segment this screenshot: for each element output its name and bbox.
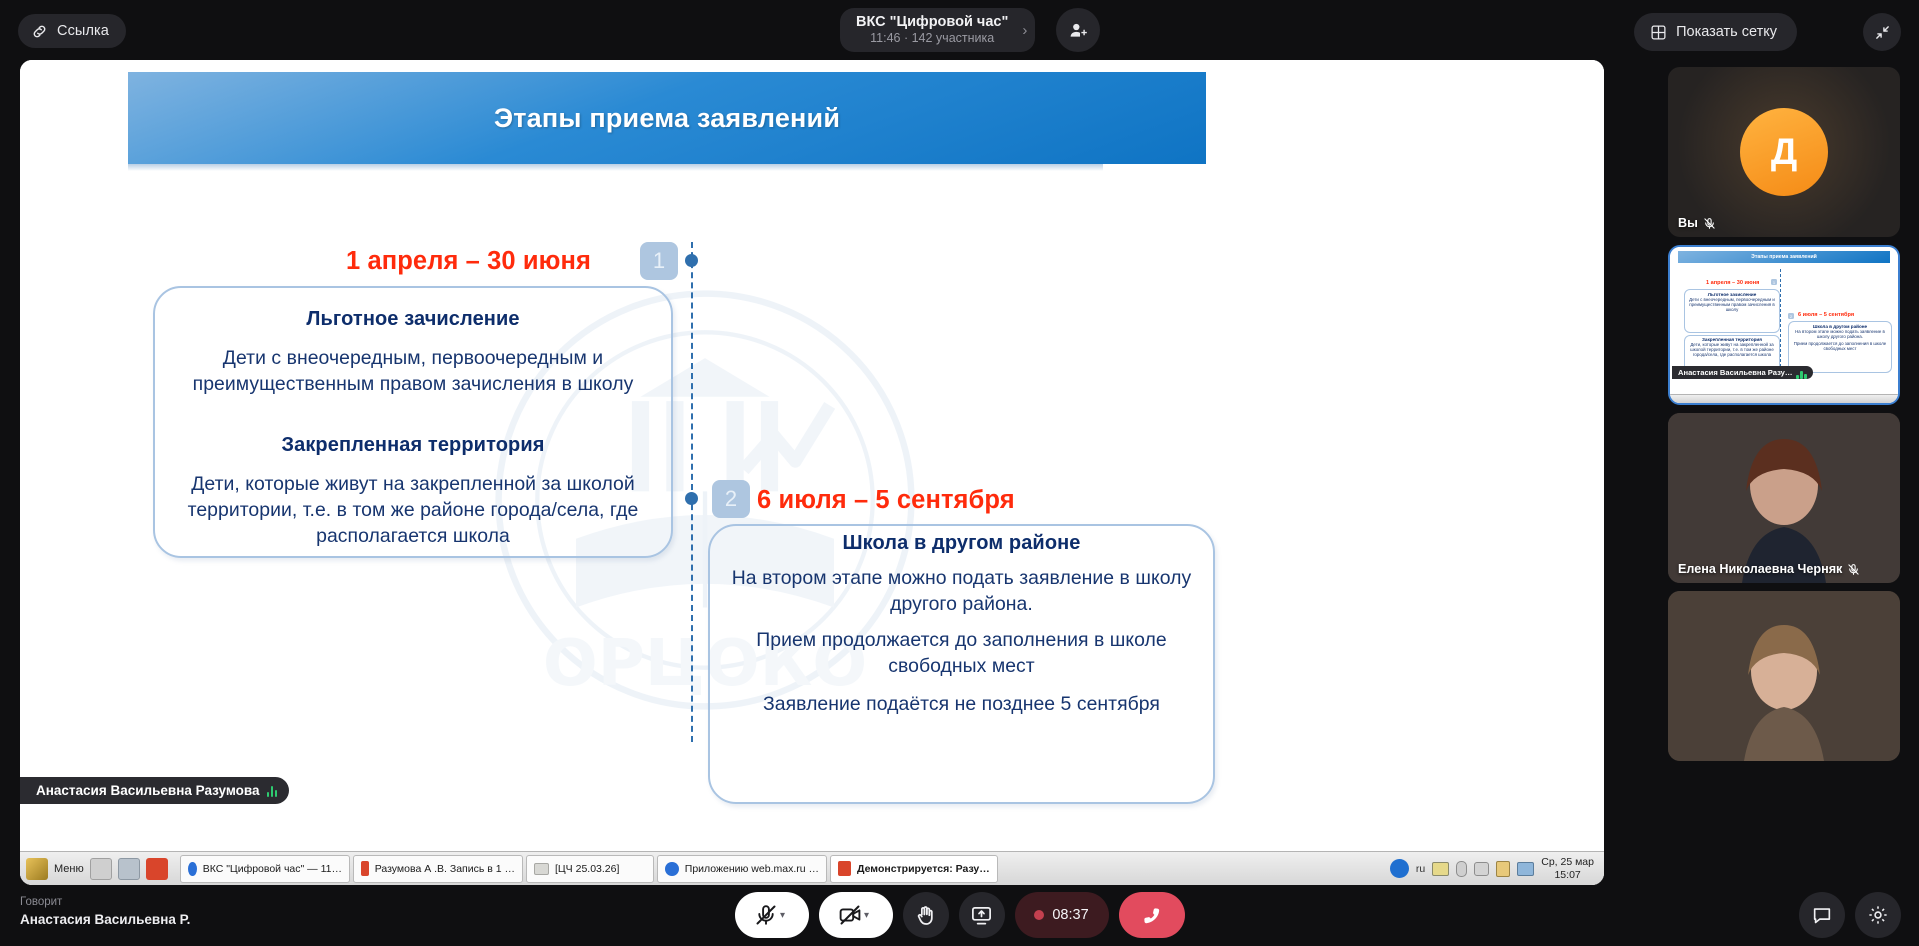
taskbar-item-active[interactable]: Демонстрируется: Разу… (830, 855, 998, 883)
copy-link-label: Ссылка (57, 23, 109, 39)
stage-1-card: Льготное зачисление Дети с внеочередным,… (153, 286, 673, 558)
mini-audio-level-icon (1796, 367, 1807, 379)
chat-button[interactable] (1799, 892, 1845, 938)
folder-icon (534, 863, 549, 875)
presentation-slide: ОРЦОКО Этапы приема заявлений 1 1 апреля… (20, 60, 1604, 850)
participant-tile-video[interactable] (1668, 591, 1900, 761)
stage-2-text-1: На втором этапе можно подать заявление в… (710, 566, 1213, 618)
microphone-muted-icon (754, 903, 778, 927)
collapse-button[interactable] (1863, 13, 1901, 51)
mini-slide-preview: Этапы приема заявлений 1 апреля – 30 июн… (1670, 247, 1898, 403)
taskbar-item[interactable]: ВКС "Цифровой час" — 11… (180, 855, 350, 883)
mini-timeline (1780, 269, 1781, 377)
launcher-terminal-icon[interactable] (90, 858, 112, 880)
taskbar-item-label: Приложению web.max.ru … (685, 863, 819, 875)
gear-icon (1867, 904, 1889, 926)
raise-hand-button[interactable] (903, 892, 949, 938)
display-icon[interactable] (1432, 862, 1449, 876)
record-dot-icon (1034, 910, 1044, 920)
taskbar-item[interactable]: [ЦЧ 25.03.26] (526, 855, 654, 883)
stage-2-card: Школа в другом районе На втором этапе мо… (708, 524, 1215, 804)
taskbar-item-label: Разумова А .В. Запись в 1 … (375, 863, 515, 875)
mini-body-4: Прием продолжается до заполнения в школе… (1789, 339, 1891, 351)
launcher-screenshot-icon[interactable] (118, 858, 140, 880)
shared-screen-speaker-name: Анастасия Васильевна Разумова (20, 777, 289, 804)
os-taskbar: Меню ВКС "Цифровой час" — 11… Разумова А… (20, 851, 1604, 885)
mini-speaker-label: Анастасия Васильевна Разу… (1672, 366, 1813, 379)
start-menu-label: Меню (54, 863, 84, 875)
stage-2-date: 6 июля – 5 сентября (757, 486, 1015, 515)
volume-icon[interactable] (1474, 862, 1489, 876)
taskbar-window-list: ВКС "Цифровой час" — 11… Разумова А .В. … (170, 855, 1390, 883)
hangup-icon (1139, 903, 1164, 928)
link-icon (31, 23, 48, 40)
show-grid-label: Показать сетку (1676, 24, 1777, 40)
system-tray: ru Ср, 25 мар 15:07 (1390, 856, 1604, 881)
settings-button[interactable] (1855, 892, 1901, 938)
meeting-title: ВКС "Цифровой час" (856, 14, 1008, 32)
video-conference-app: Ссылка ВКС "Цифровой час" 11:46 · 142 уч… (0, 0, 1919, 946)
mini-body-1: Дети с внеочередным, первоочередным и пр… (1685, 297, 1779, 312)
mini-date-1: 1 апреля – 30 июня (1706, 280, 1759, 286)
taskbar-clock[interactable]: Ср, 25 мар 15:07 (1541, 856, 1594, 881)
participant-tile-screenshare[interactable]: Этапы приема заявлений 1 апреля – 30 июн… (1668, 245, 1900, 405)
mini-card-1: Льготное зачисление Дети с внеочередным,… (1684, 289, 1780, 333)
mini-speaker-name: Анастасия Васильевна Разу… (1678, 368, 1792, 377)
stage-2-text-3: Заявление подаётся не позднее 5 сентября (710, 692, 1213, 718)
microphone-icon[interactable] (1456, 861, 1467, 877)
recording-timer[interactable]: 08:37 (1015, 892, 1109, 938)
copy-link-button[interactable]: Ссылка (18, 14, 126, 48)
timeline-dot-1 (685, 254, 698, 267)
stage-2-text-2: Прием продолжается до заполнения в школе… (710, 628, 1213, 680)
keyboard-layout-indicator[interactable]: ru (1416, 863, 1425, 875)
yandex-browser-icon (665, 862, 679, 876)
screens-icon[interactable] (1517, 862, 1534, 876)
yandex-tray-icon[interactable] (1390, 859, 1409, 878)
taskbar-item-label: [ЦЧ 25.03.26] (555, 863, 619, 875)
active-speaker-label: Говорит (20, 895, 190, 911)
add-person-icon (1068, 20, 1089, 41)
grid-icon (1650, 24, 1667, 41)
hangup-button[interactable] (1119, 892, 1185, 938)
share-screen-button[interactable] (959, 892, 1005, 938)
chevron-right-icon: › (1022, 22, 1027, 39)
share-screen-icon (970, 904, 993, 927)
mini-stage-number-1: 1 (1771, 279, 1777, 285)
start-menu-area[interactable]: Меню (20, 858, 170, 880)
participant-name-label: Вы (1678, 216, 1698, 230)
stage-number-2: 2 (712, 480, 750, 518)
microphone-muted-icon (1847, 563, 1860, 576)
right-controls (1799, 892, 1901, 938)
slide-title-shadow (128, 164, 1103, 171)
camera-muted-icon (838, 903, 862, 927)
mini-body-2: Дети, которые живут на закрепленной за ш… (1685, 342, 1779, 357)
video-feed-placeholder (1668, 413, 1900, 583)
slide-title-band: Этапы приема заявлений (128, 72, 1206, 164)
avatar: Д (1740, 108, 1828, 196)
shared-screen-stage[interactable]: ОРЦОКО Этапы приема заявлений 1 1 апреля… (20, 60, 1604, 885)
add-participant-button[interactable] (1056, 8, 1100, 52)
video-feed-placeholder (1668, 591, 1900, 761)
chevron-down-icon[interactable]: ▾ (780, 910, 785, 921)
mini-date-2: 6 июля – 5 сентября (1798, 312, 1854, 318)
top-bar: Ссылка ВКС "Цифровой час" 11:46 · 142 уч… (0, 0, 1919, 60)
participant-name: Елена Николаевна Черняк (1678, 562, 1860, 576)
microphone-muted-icon (1703, 217, 1716, 230)
mini-stage-number-2: 2 (1788, 313, 1794, 319)
stage-1-text-2: Дети, которые живут на закрепленной за ш… (155, 472, 671, 549)
taskbar-item-label: Демонстрируется: Разу… (857, 863, 990, 875)
meeting-subtitle: 11:46 · 142 участника (870, 31, 994, 46)
start-menu-icon[interactable] (26, 858, 48, 880)
show-grid-button[interactable]: Показать сетку (1634, 13, 1797, 51)
taskbar-item-label: ВКС "Цифровой час" — 11… (203, 863, 342, 875)
clock-date: Ср, 25 мар (1541, 856, 1594, 868)
mini-slide-title: Этапы приема заявлений (1678, 251, 1890, 263)
mini-taskbar (1670, 394, 1898, 403)
yandex-browser-icon (188, 862, 197, 876)
slide-title: Этапы приема заявлений (494, 103, 840, 134)
launcher-impress-icon[interactable] (146, 858, 168, 880)
participant-tile-self[interactable]: Д Вы (1668, 67, 1900, 237)
chevron-down-icon[interactable]: ▾ (864, 910, 869, 921)
audio-level-icon (267, 785, 278, 797)
stage-1-heading-1: Льготное зачисление (155, 308, 671, 331)
active-speaker-indicator: Говорит Анастасия Васильевна Р. (20, 895, 190, 929)
impress-icon (838, 861, 851, 876)
raise-hand-icon (914, 904, 937, 927)
call-controls: ▾ ▾ (735, 892, 1185, 938)
bottom-control-bar: Говорит Анастасия Васильевна Р. ▾ (0, 885, 1919, 946)
stage-1-heading-2: Закрепленная территория (155, 434, 671, 457)
shared-speaker-label: Анастасия Васильевна Разумова (36, 783, 260, 798)
chat-icon (1811, 904, 1833, 926)
taskbar-item[interactable]: Приложению web.max.ru … (657, 855, 827, 883)
stage-1-date: 1 апреля – 30 июня (346, 247, 591, 276)
stage-number-1: 1 (640, 242, 678, 280)
meeting-info-chip[interactable]: ВКС "Цифровой час" 11:46 · 142 участника… (840, 8, 1035, 52)
microphone-button[interactable]: ▾ (735, 892, 809, 938)
timeline-dot-2 (685, 492, 698, 505)
clock-time: 15:07 (1554, 869, 1580, 881)
stage-2-heading-1: Школа в другом районе (710, 532, 1213, 555)
recording-time: 08:37 (1052, 907, 1088, 923)
participant-name-label: Елена Николаевна Черняк (1678, 562, 1842, 576)
active-speaker-name: Анастасия Васильевна Р. (20, 911, 190, 929)
participants-filmstrip: Д Вы Этапы приема заявлений 1 апреля – 3… (1668, 60, 1903, 885)
stage-1-text-1: Дети с внеочередным, первоочередным и пр… (155, 346, 671, 398)
remote-desktop: ОРЦОКО Этапы приема заявлений 1 1 апреля… (20, 60, 1604, 885)
camera-button[interactable]: ▾ (819, 892, 893, 938)
clipboard-icon[interactable] (1496, 861, 1510, 877)
mini-body-3: На втором этапе можно подать заявление в… (1789, 329, 1891, 339)
participant-name: Вы (1678, 216, 1716, 230)
impress-icon (361, 861, 369, 876)
taskbar-item[interactable]: Разумова А .В. Запись в 1 … (353, 855, 523, 883)
collapse-arrows-icon (1874, 24, 1891, 41)
participant-tile-video[interactable]: Елена Николаевна Черняк (1668, 413, 1900, 583)
